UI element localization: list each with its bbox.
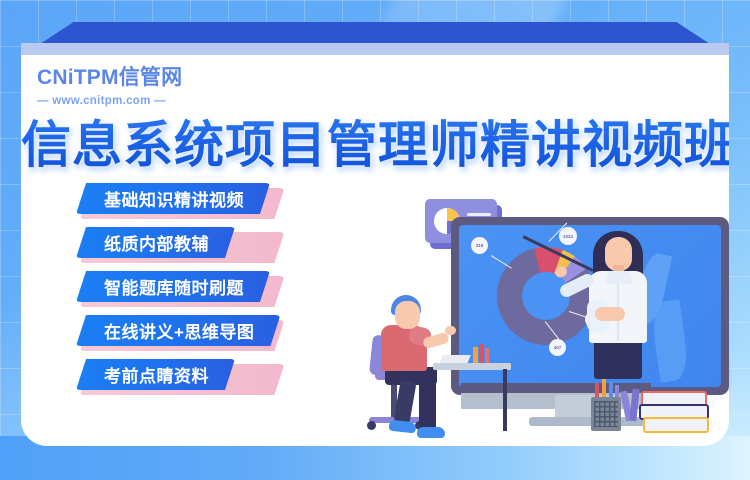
brand-logo[interactable]: CNiTPM信管网 — www.cnitpm.com —: [37, 67, 182, 107]
chair-wheel: [367, 421, 376, 430]
teacher-hands: [595, 307, 625, 321]
student-shoe-back: [388, 420, 416, 434]
feature-badge-4[interactable]: 在线讲义+思维导图: [76, 315, 280, 346]
chart-label-bubble: 407: [549, 339, 566, 356]
desk-surface: [433, 363, 511, 370]
card-text-line: [467, 213, 491, 216]
desk-book: [485, 348, 489, 364]
feature-list: 基础知识精讲视频 纸质内部教辅 智能题库随时刷题 在线讲义+思维导图 考前点睛资…: [76, 183, 280, 403]
feature-badge-1[interactable]: 基础知识精讲视频: [76, 183, 270, 214]
list-item[interactable]: 纸质内部教辅: [76, 227, 280, 258]
content-card: CNiTPM信管网 — www.cnitpm.com — 信息系统项目管理师精讲…: [21, 55, 729, 446]
desk-book: [473, 347, 478, 364]
list-item[interactable]: 智能题库随时刷题: [76, 271, 280, 302]
list-item[interactable]: 考前点睛资料: [76, 359, 280, 390]
desk-leg: [503, 369, 507, 431]
student-hand: [445, 326, 456, 335]
page-title: 信息系统项目管理师精讲视频班: [21, 105, 729, 177]
promo-banner: CNiTPM信管网 — www.cnitpm.com — 信息系统项目管理师精讲…: [0, 0, 750, 480]
feature-badge-2[interactable]: 纸质内部教辅: [76, 227, 235, 258]
pen-holder-mesh: [594, 401, 618, 427]
chart-label-bubble: 318: [471, 237, 488, 254]
pen: [602, 379, 606, 399]
list-item[interactable]: 在线讲义+思维导图: [76, 315, 280, 346]
student-leg-front: [419, 379, 436, 431]
student-shoe-front: [417, 427, 445, 438]
online-class-illustration: 318 1024 48 407: [373, 195, 729, 446]
feature-badge-3[interactable]: 智能题库随时刷题: [76, 271, 270, 302]
desk-book: [479, 344, 484, 364]
chart-label-bubble: 1024: [559, 227, 577, 245]
logo-text: CNiTPM信管网: [37, 67, 182, 88]
stacked-book: [643, 417, 709, 433]
student-head: [395, 301, 420, 329]
teacher-skirt: [594, 337, 642, 379]
list-item[interactable]: 基础知识精讲视频: [76, 183, 280, 214]
feature-badge-5[interactable]: 考前点睛资料: [76, 359, 235, 390]
card-top-bevel: [40, 22, 710, 44]
